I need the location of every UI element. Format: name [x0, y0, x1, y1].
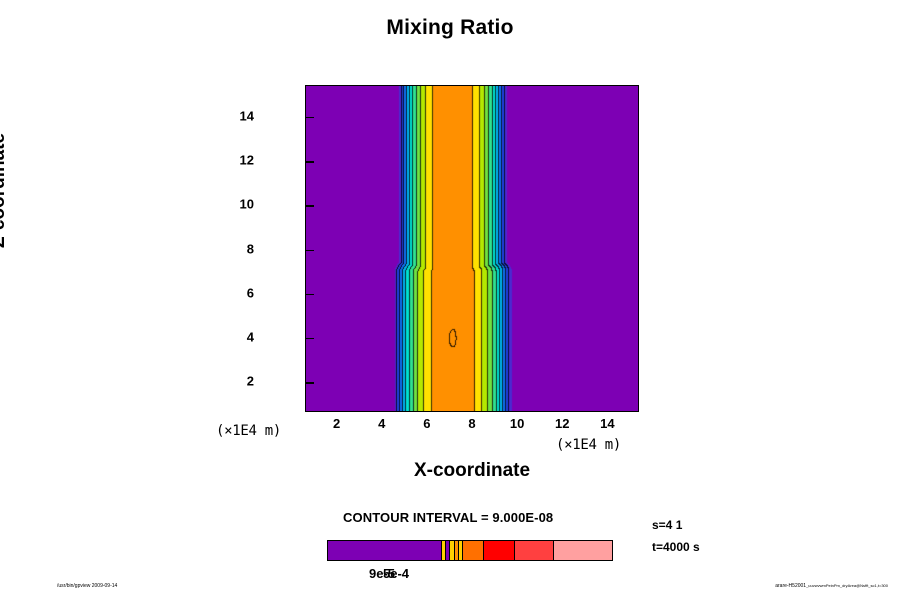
x-axis-minor-tick [496, 411, 498, 412]
x-axis-minor-tick [315, 411, 317, 412]
x-axis-minor-tick [586, 411, 588, 412]
x-axis-tick-label: 8 [452, 416, 492, 431]
x-axis-tick-label: 10 [497, 416, 537, 431]
footer-right-credit: arare-H52001_uuvwvwmPeinPm_dryArea@Nsfft… [775, 583, 888, 589]
x-axis-tick [563, 411, 565, 412]
y-axis-minor-tick [305, 316, 306, 318]
footer-dataset-name: arare-H52001 [775, 583, 806, 589]
y-axis-tick-label: 4 [214, 329, 254, 344]
x-axis-tick [338, 411, 340, 412]
x-axis-minor-tick [450, 411, 452, 412]
y-axis-title: Z-coordinate [0, 133, 10, 248]
x-axis-tick-label: 6 [407, 416, 447, 431]
contour-interval-label: CONTOUR INTERVAL = 9.000E-08 [343, 510, 553, 525]
color-scale-tick-label: 5e-4 [383, 566, 409, 581]
x-axis-tick-label: 12 [542, 416, 582, 431]
x-axis-tick [473, 411, 475, 412]
y-axis-minor-tick [305, 272, 306, 274]
color-scale-segment [462, 541, 482, 560]
x-axis-tick-label: 14 [587, 416, 627, 431]
y-axis-tick-inner [306, 250, 314, 252]
y-axis-tick-label: 8 [214, 241, 254, 256]
y-axis-tick-inner [306, 205, 314, 207]
x-axis-minor-tick [405, 411, 407, 412]
footer-left-credit: /usr/bin/gpview 2009-09-14 [57, 583, 117, 589]
x-axis-minor-tick [541, 411, 543, 412]
y-axis-tick-inner [306, 117, 314, 119]
y-axis-tick-label: 14 [214, 108, 254, 123]
footer-dataset-detail: _uuvwvwmPeinPm_dryArea@Nsfft_sc1,t=300 [806, 583, 888, 588]
y-axis-tick-inner [306, 382, 314, 384]
color-scale-segment [328, 541, 441, 560]
y-axis-minor-tick [305, 183, 306, 185]
contour-plot-area [305, 85, 639, 412]
x-axis-tick [428, 411, 430, 412]
page-title: Mixing Ratio [0, 16, 900, 40]
y-axis-minor-tick [305, 139, 306, 141]
x-axis-tick [518, 411, 520, 412]
y-axis-minor-tick [305, 360, 306, 362]
y-axis-tick-inner [306, 338, 314, 340]
y-axis-minor-tick [305, 227, 306, 229]
t-annotation: t=4000 s [652, 540, 700, 554]
x-axis-tick-label: 2 [317, 416, 357, 431]
color-scale-segment [514, 541, 554, 560]
x-axis-tick-label: 4 [362, 416, 402, 431]
x-axis-unit-label: (×1E4 m) [556, 437, 621, 453]
x-axis-tick [383, 411, 385, 412]
color-scale-segment [553, 541, 612, 560]
color-scale-bar [327, 540, 613, 561]
x-axis-title: X-coordinate [305, 460, 639, 482]
y-axis-minor-tick [305, 95, 306, 97]
y-axis-tick-inner [306, 161, 314, 163]
y-axis-tick-label: 12 [214, 153, 254, 168]
x-axis-minor-tick [631, 411, 633, 412]
y-axis-unit-label: (×1E4 m) [216, 423, 281, 439]
x-axis-tick [608, 411, 610, 412]
x-axis-minor-tick [360, 411, 362, 412]
s-annotation: s=4 1 [652, 518, 682, 532]
y-axis-tick-label: 6 [214, 285, 254, 300]
y-axis-tick-inner [306, 294, 314, 296]
y-axis-tick-label: 2 [214, 374, 254, 389]
color-scale-segment [483, 541, 514, 560]
y-axis-minor-tick [305, 404, 306, 406]
y-axis-tick-label: 10 [214, 197, 254, 212]
contour-field-canvas [306, 86, 639, 412]
